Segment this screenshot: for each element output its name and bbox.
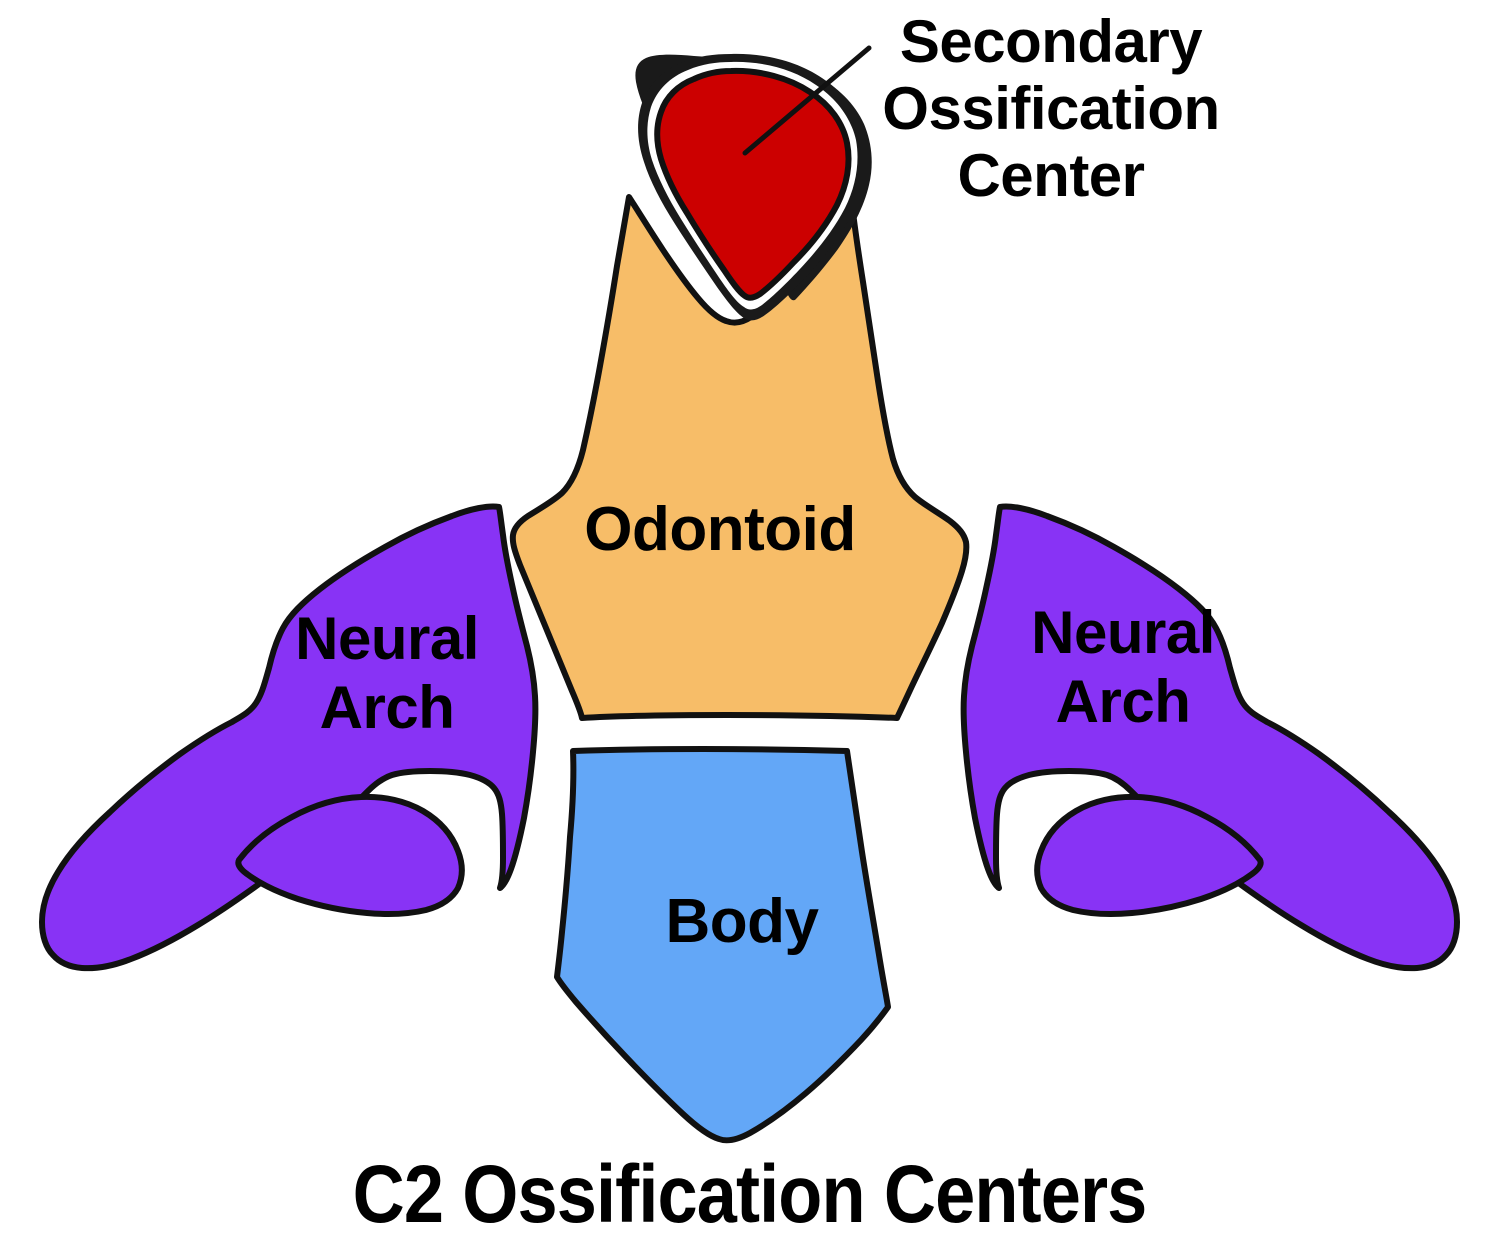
neural-arch-right-group[interactable] xyxy=(964,506,1457,968)
neural-arch-left-group[interactable] xyxy=(42,506,535,968)
figure-title: C2 Ossification Centers xyxy=(90,1148,1409,1242)
c2-vertebra-diagram xyxy=(0,0,1499,1253)
neural-arch-right-shape[interactable] xyxy=(964,506,1457,968)
neural-arch-left-shape[interactable] xyxy=(42,506,535,968)
figure-canvas: Secondary Ossification Center Odontoid N… xyxy=(0,0,1499,1253)
body-shape[interactable] xyxy=(557,749,888,1140)
